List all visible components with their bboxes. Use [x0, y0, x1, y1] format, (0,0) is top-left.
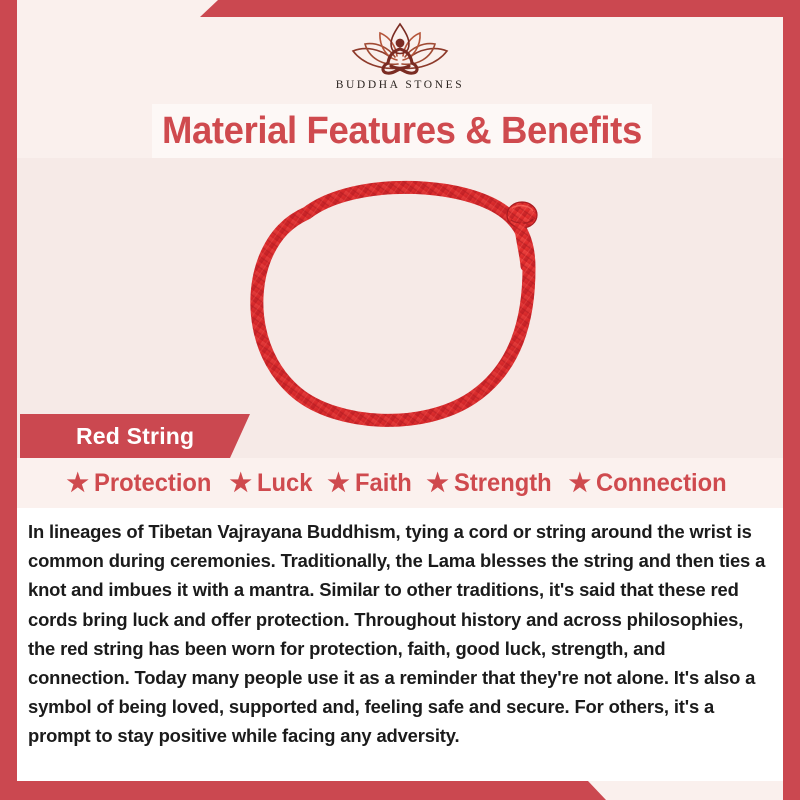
right-accent-bar [783, 0, 800, 800]
feature-item-protection: ★ Protection [66, 469, 217, 498]
features-strip: ★ Protection ★ Luck ★ Faith ★ Strength ★… [17, 458, 783, 508]
lotus-meditation-icon [341, 18, 459, 78]
feature-label: Connection [596, 469, 727, 498]
product-image-area [17, 158, 783, 458]
brand-name: BUDDHA STONES [336, 79, 464, 91]
star-icon: ★ [569, 471, 591, 496]
title-band: Material Features & Benefits [152, 104, 652, 158]
star-icon: ★ [230, 471, 252, 496]
star-icon: ★ [327, 471, 349, 496]
star-icon: ★ [426, 471, 448, 496]
feature-label: Protection [94, 469, 211, 498]
cord-tail [520, 228, 526, 266]
brand-logo: BUDDHA STONES [0, 18, 800, 98]
page-title: Material Features & Benefits [162, 110, 642, 153]
top-accent-bar [0, 0, 800, 17]
infographic-page: BUDDHA STONES Material Features & Benefi… [0, 0, 800, 800]
left-accent-bar [0, 0, 17, 800]
ribbon-label: Red String [20, 423, 194, 450]
feature-item-connection: ★ Connection [569, 469, 734, 498]
feature-item-faith: ★ Faith [327, 469, 414, 498]
feature-item-strength: ★ Strength [426, 469, 556, 498]
feature-item-luck: ★ Luck [230, 469, 316, 498]
star-icon: ★ [66, 471, 88, 496]
section-ribbon: Red String [20, 414, 250, 458]
feature-label: Luck [257, 469, 312, 498]
description-paragraph: In lineages of Tibetan Vajrayana Buddhis… [28, 517, 769, 751]
feature-label: Strength [454, 469, 552, 498]
description-card: In lineages of Tibetan Vajrayana Buddhis… [17, 508, 783, 781]
feature-label: Faith [355, 469, 412, 498]
braided-red-string-bracelet [17, 158, 783, 458]
bottom-accent-bar [0, 781, 800, 800]
